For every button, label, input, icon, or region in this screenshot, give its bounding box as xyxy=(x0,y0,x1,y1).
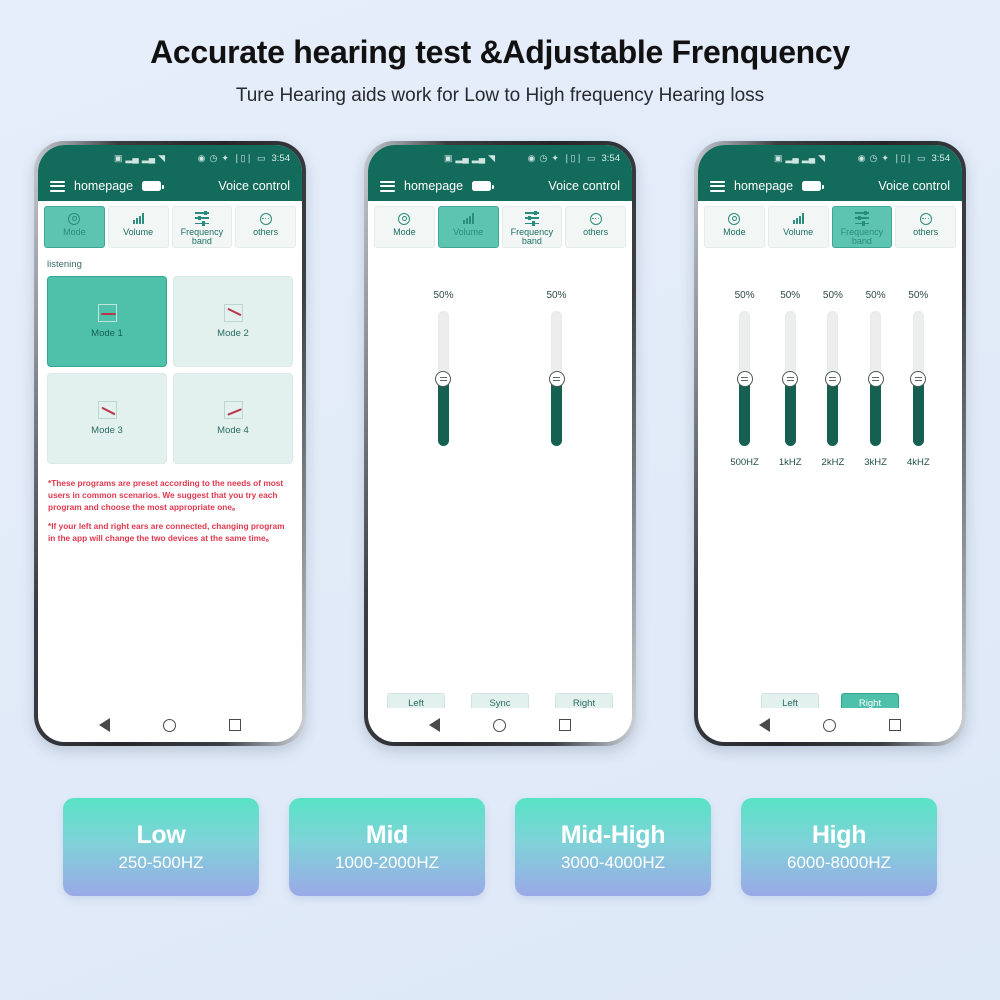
slider-fill xyxy=(551,379,562,447)
bluetooth-icon: ✦ xyxy=(881,154,889,163)
slider-label: 3kHZ xyxy=(864,457,887,468)
slope-curve-icon xyxy=(224,304,243,322)
slider-track[interactable] xyxy=(438,311,449,446)
status-label: listening xyxy=(38,252,302,276)
slider-thumb[interactable] xyxy=(549,371,565,387)
home-icon[interactable] xyxy=(493,719,506,732)
signal-2-icon: ▂▄ xyxy=(472,154,485,163)
mode-label: Mode 2 xyxy=(217,328,249,339)
vibrate-icon: ❘▯❘ xyxy=(893,154,913,163)
rising-curve-icon xyxy=(224,401,243,419)
signal-2-icon: ▂▄ xyxy=(142,154,155,163)
mode-card-2[interactable]: Mode 2 xyxy=(173,276,293,367)
slider-fill xyxy=(870,379,881,447)
vibrate-icon: ❘▯❘ xyxy=(563,154,583,163)
slider-value: 50% xyxy=(780,290,800,301)
voice-control-button[interactable]: Voice control xyxy=(878,179,950,193)
notes-block: *These programs are preset according to … xyxy=(38,464,302,544)
tab-volume[interactable]: Volume xyxy=(438,206,499,248)
voice-control-button[interactable]: Voice control xyxy=(218,179,290,193)
left-button[interactable]: Left xyxy=(761,693,819,708)
band-range: 6000-8000HZ xyxy=(787,853,891,873)
mode-card-1[interactable]: Mode 1 xyxy=(47,276,167,367)
home-icon[interactable] xyxy=(163,719,176,732)
mode-grid: Mode 1 Mode 2 Mode 3 Mode 4 xyxy=(38,276,302,464)
tab-others[interactable]: others xyxy=(235,206,296,248)
band-title: Low xyxy=(136,821,185,850)
mode-target-icon xyxy=(398,211,410,226)
ellipsis-circle-icon xyxy=(590,211,602,226)
tab-label: Volume xyxy=(453,228,483,238)
band-range: 3000-4000HZ xyxy=(561,853,665,873)
band-card-high: High 6000-8000HZ xyxy=(741,798,937,896)
volume-bars-icon xyxy=(463,211,474,226)
tab-label: Mode xyxy=(63,228,86,238)
slider-track[interactable] xyxy=(785,311,796,446)
app-title: homepage xyxy=(734,179,793,193)
phone-mockup-2: ▣ ▂▄ ▂▄ ◥ ◉ ◷ ✦ ❘▯❘ ▭ 3:54 homepage Voic… xyxy=(364,141,636,746)
eye-icon: ◉ xyxy=(858,154,866,163)
app-title: homepage xyxy=(404,179,463,193)
note-text: *If your left and right ears are connect… xyxy=(48,520,292,544)
slider-label: 500HZ xyxy=(730,457,759,468)
battery-icon xyxy=(472,181,491,191)
slider-thumb[interactable] xyxy=(737,371,753,387)
back-icon[interactable] xyxy=(759,718,770,732)
signal-1-icon: ▂▄ xyxy=(126,154,139,163)
android-nav-bar xyxy=(38,708,302,742)
tab-volume[interactable]: Volume xyxy=(768,206,829,248)
bottom-button-row: Left Right xyxy=(698,693,962,708)
hamburger-icon[interactable] xyxy=(50,181,65,192)
tab-others[interactable]: others xyxy=(895,206,956,248)
bottom-button-row: Left Sync Right xyxy=(368,693,632,708)
recents-icon[interactable] xyxy=(229,719,241,731)
signal-1-icon: ▂▄ xyxy=(786,154,799,163)
alarm-icon: ◷ xyxy=(210,154,218,163)
slider-track[interactable] xyxy=(913,311,924,446)
sim-card-icon: ▣ xyxy=(444,154,453,163)
volume-slider-left[interactable]: 50% xyxy=(433,290,453,446)
bluetooth-icon: ✦ xyxy=(221,154,229,163)
note-text: *These programs are preset according to … xyxy=(48,477,292,513)
battery-96-icon: ▭ xyxy=(587,154,596,163)
slider-value: 50% xyxy=(866,290,886,301)
slider-label: 1kHZ xyxy=(779,457,802,468)
wifi-icon: ◥ xyxy=(488,154,495,163)
volume-bars-icon xyxy=(793,211,804,226)
sim-card-icon: ▣ xyxy=(774,154,783,163)
tab-strip: Mode Volume Frequency band others xyxy=(368,201,632,252)
slider-track[interactable] xyxy=(827,311,838,446)
tab-frequency-band[interactable]: Frequency band xyxy=(832,206,893,248)
mode-target-icon xyxy=(68,211,80,226)
slider-track[interactable] xyxy=(739,311,750,446)
voice-control-button[interactable]: Voice control xyxy=(548,179,620,193)
freq-slider-3khz[interactable]: 50% 3kHZ xyxy=(864,290,887,468)
volume-slider-group: 50% 50% xyxy=(368,252,632,446)
tab-label: others xyxy=(583,228,608,238)
battery-96-icon: ▭ xyxy=(257,154,266,163)
phone3-screen: 50% 500HZ 50% 1kHZ 50% xyxy=(698,252,962,708)
band-card-low: Low 250-500HZ xyxy=(63,798,259,896)
recents-icon[interactable] xyxy=(559,719,571,731)
slider-fill xyxy=(739,379,750,447)
slider-thumb[interactable] xyxy=(435,371,451,387)
alarm-icon: ◷ xyxy=(870,154,878,163)
tab-label: others xyxy=(253,228,278,238)
sim-card-icon: ▣ xyxy=(114,154,123,163)
phone-mockup-3: ▣ ▂▄ ▂▄ ◥ ◉ ◷ ✦ ❘▯❘ ▭ 3:54 homepage Voic… xyxy=(694,141,966,746)
eye-icon: ◉ xyxy=(198,154,206,163)
freq-slider-1khz[interactable]: 50% 1kHZ xyxy=(779,290,802,468)
hamburger-icon[interactable] xyxy=(380,181,395,192)
band-card-mid-high: Mid-High 3000-4000HZ xyxy=(515,798,711,896)
status-time: 3:54 xyxy=(272,153,291,164)
wifi-icon: ◥ xyxy=(158,154,165,163)
android-nav-bar xyxy=(698,708,962,742)
phone2-screen: 50% 50% Left Sync Right xyxy=(368,252,632,708)
slider-value: 50% xyxy=(433,290,453,301)
app-bar: homepage Voice control xyxy=(38,171,302,201)
tab-label: Mode xyxy=(723,228,746,238)
tab-others[interactable]: others xyxy=(565,206,626,248)
tab-frequency-band[interactable]: Frequency band xyxy=(172,206,233,248)
slider-value: 50% xyxy=(547,290,567,301)
signal-1-icon: ▂▄ xyxy=(456,154,469,163)
right-button[interactable]: Right xyxy=(555,693,613,708)
slider-thumb[interactable] xyxy=(825,371,841,387)
band-card-mid: Mid 1000-2000HZ xyxy=(289,798,485,896)
band-range: 250-500HZ xyxy=(118,853,203,873)
slider-fill xyxy=(827,379,838,447)
slider-value: 50% xyxy=(735,290,755,301)
tab-strip: Mode Volume Frequency band others xyxy=(698,201,962,252)
frequency-band-cards: Low 250-500HZ Mid 1000-2000HZ Mid-High 3… xyxy=(0,798,1000,896)
page-header: Accurate hearing test &Adjustable Frenqu… xyxy=(0,0,1000,107)
band-range: 1000-2000HZ xyxy=(335,853,439,873)
vibrate-icon: ❘▯❘ xyxy=(233,154,253,163)
mode-label: Mode 1 xyxy=(91,328,123,339)
band-title: Mid-High xyxy=(561,821,666,850)
tab-label: Volume xyxy=(123,228,153,238)
bluetooth-icon: ✦ xyxy=(551,154,559,163)
page-title: Accurate hearing test &Adjustable Frenqu… xyxy=(0,34,1000,71)
page-subtitle: Ture Hearing aids work for Low to High f… xyxy=(0,85,1000,107)
slider-track[interactable] xyxy=(870,311,881,446)
band-title: High xyxy=(812,821,866,850)
ellipsis-circle-icon xyxy=(260,211,272,226)
alarm-icon: ◷ xyxy=(540,154,548,163)
tab-label: Frequency band xyxy=(173,228,232,247)
tab-label: others xyxy=(913,228,938,238)
equalizer-icon xyxy=(195,211,209,226)
tab-label: Mode xyxy=(393,228,416,238)
tab-label: Frequency band xyxy=(503,228,562,247)
sync-button[interactable]: Sync xyxy=(471,693,529,708)
tab-mode[interactable]: Mode xyxy=(704,206,765,248)
slider-label: 2kHZ xyxy=(822,457,845,468)
flat-curve-icon xyxy=(98,304,117,322)
battery-icon xyxy=(802,181,821,191)
right-button[interactable]: Right xyxy=(841,693,899,708)
slider-thumb[interactable] xyxy=(868,371,884,387)
mode-card-3[interactable]: Mode 3 xyxy=(47,373,167,464)
slider-value: 50% xyxy=(908,290,928,301)
back-icon[interactable] xyxy=(99,718,110,732)
back-icon[interactable] xyxy=(429,718,440,732)
status-bar: ▣ ▂▄ ▂▄ ◥ ◉ ◷ ✦ ❘▯❘ ▭ 3:54 xyxy=(368,145,632,171)
app-bar: homepage Voice control xyxy=(368,171,632,201)
tab-mode[interactable]: Mode xyxy=(374,206,435,248)
mode-card-4[interactable]: Mode 4 xyxy=(173,373,293,464)
slider-thumb[interactable] xyxy=(910,371,926,387)
phone1-screen: listening Mode 1 Mode 2 Mode 3 Mode 4 xyxy=(38,252,302,708)
tab-label: Frequency band xyxy=(833,228,892,247)
tab-frequency-band[interactable]: Frequency band xyxy=(502,206,563,248)
band-title: Mid xyxy=(366,821,408,850)
slider-fill xyxy=(913,379,924,447)
tab-mode[interactable]: Mode xyxy=(44,206,105,248)
status-time: 3:54 xyxy=(932,153,951,164)
home-icon[interactable] xyxy=(823,719,836,732)
app-bar: homepage Voice control xyxy=(698,171,962,201)
left-button[interactable]: Left xyxy=(387,693,445,708)
hamburger-icon[interactable] xyxy=(710,181,725,192)
mode-label: Mode 3 xyxy=(91,425,123,436)
slider-thumb[interactable] xyxy=(782,371,798,387)
mode-label: Mode 4 xyxy=(217,425,249,436)
slope-curve-icon xyxy=(98,401,117,419)
app-title: homepage xyxy=(74,179,133,193)
frequency-slider-group: 50% 500HZ 50% 1kHZ 50% xyxy=(698,252,962,468)
status-time: 3:54 xyxy=(602,153,621,164)
slider-fill xyxy=(785,379,796,447)
tab-strip: Mode Volume Frequency band others xyxy=(38,201,302,252)
phone-mockup-1: ▣ ▂▄ ▂▄ ◥ ◉ ◷ ✦ ❘▯❘ ▭ 3:54 homepage Voic… xyxy=(34,141,306,746)
slider-fill xyxy=(438,379,449,447)
tab-volume[interactable]: Volume xyxy=(108,206,169,248)
freq-slider-2khz[interactable]: 50% 2kHZ xyxy=(822,290,845,468)
slider-value: 50% xyxy=(823,290,843,301)
battery-icon xyxy=(142,181,161,191)
battery-96-icon: ▭ xyxy=(917,154,926,163)
signal-2-icon: ▂▄ xyxy=(802,154,815,163)
slider-track[interactable] xyxy=(551,311,562,446)
android-nav-bar xyxy=(368,708,632,742)
phone-mockups-row: ▣ ▂▄ ▂▄ ◥ ◉ ◷ ✦ ❘▯❘ ▭ 3:54 homepage Voic… xyxy=(0,141,1000,746)
status-bar: ▣ ▂▄ ▂▄ ◥ ◉ ◷ ✦ ❘▯❘ ▭ 3:54 xyxy=(38,145,302,171)
mode-target-icon xyxy=(728,211,740,226)
equalizer-icon xyxy=(855,211,869,226)
volume-slider-right[interactable]: 50% xyxy=(547,290,567,446)
equalizer-icon xyxy=(525,211,539,226)
volume-bars-icon xyxy=(133,211,144,226)
tab-label: Volume xyxy=(783,228,813,238)
freq-slider-500hz[interactable]: 50% 500HZ xyxy=(730,290,759,468)
status-bar: ▣ ▂▄ ▂▄ ◥ ◉ ◷ ✦ ❘▯❘ ▭ 3:54 xyxy=(698,145,962,171)
ellipsis-circle-icon xyxy=(920,211,932,226)
recents-icon[interactable] xyxy=(889,719,901,731)
freq-slider-4khz[interactable]: 50% 4kHZ xyxy=(907,290,930,468)
wifi-icon: ◥ xyxy=(818,154,825,163)
slider-label: 4kHZ xyxy=(907,457,930,468)
eye-icon: ◉ xyxy=(528,154,536,163)
